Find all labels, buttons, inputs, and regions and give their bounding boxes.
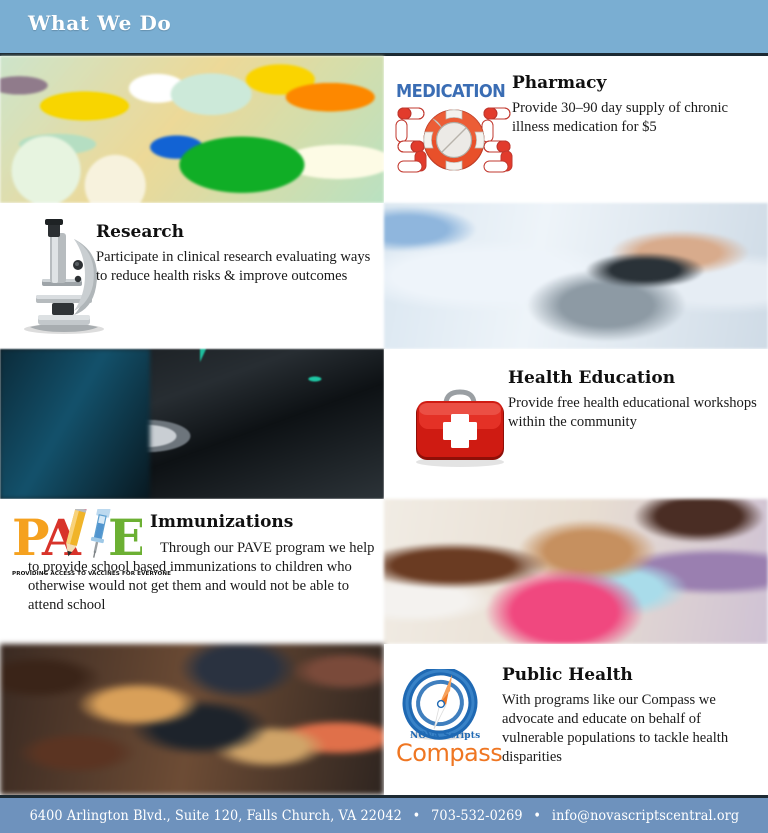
footer-address: 6400 Arlington Blvd., Suite 120, Falls C… xyxy=(29,808,401,824)
services-grid: MEDICATION xyxy=(0,56,768,795)
health-education-text-cell: Health Education Provide free health edu… xyxy=(384,349,768,499)
section-title: Health Education xyxy=(508,369,758,388)
footer-separator-2: • xyxy=(526,808,547,824)
section-body: Provide 30–90 day supply of chronic illn… xyxy=(512,99,758,137)
child-vaccination-photo xyxy=(384,499,768,644)
page-header: What We Do xyxy=(0,0,768,56)
section-body: Provide free health educational workshop… xyxy=(508,394,758,432)
section-public-health: NOVA Scripts Compass Public Health With … xyxy=(0,644,768,795)
section-body: Through our PAVE program we help to prov… xyxy=(28,539,376,615)
footer-contact-line: 6400 Arlington Blvd., Suite 120, Falls C… xyxy=(29,808,739,824)
life-ring-icon xyxy=(424,110,484,170)
section-title: Pharmacy xyxy=(512,74,758,93)
public-health-text-cell: NOVA Scripts Compass Public Health With … xyxy=(384,644,768,795)
first-aid-kit-icon xyxy=(408,382,512,468)
page-footer: 6400 Arlington Blvd., Suite 120, Falls C… xyxy=(0,795,768,833)
pills-capsules-photo xyxy=(0,56,384,203)
section-title: Immunizations xyxy=(150,513,378,532)
medication-sos-wordmark: MEDICATION xyxy=(396,82,506,102)
microscope-icon xyxy=(20,217,106,335)
medication-sos-capsules-icon xyxy=(394,104,514,174)
section-body: With programs like our Compass we advoca… xyxy=(502,691,758,767)
nova-scripts-compass-logo: NOVA Scripts Compass xyxy=(394,669,494,769)
section-health-education: Health Education Provide free health edu… xyxy=(0,349,768,499)
section-immunizations: P A E xyxy=(0,499,768,644)
page-title: What We Do xyxy=(28,11,171,35)
what-we-do-infographic: What We Do MEDICATION xyxy=(0,0,768,833)
pharmacy-text-cell: MEDICATION xyxy=(384,56,768,203)
section-pharmacy: MEDICATION xyxy=(0,56,768,203)
footer-phone[interactable]: 703-532-0269 xyxy=(431,808,522,824)
section-title: Research xyxy=(96,223,374,242)
footer-separator-1: • xyxy=(406,808,427,824)
research-text-cell: Research Participate in clinical researc… xyxy=(0,203,384,349)
medication-sos-logo: MEDICATION xyxy=(394,82,514,174)
section-body: Participate in clinical research evaluat… xyxy=(96,248,374,286)
footer-email[interactable]: info@novascriptscentral.org xyxy=(552,808,739,824)
crowd-of-people-photo xyxy=(0,644,384,795)
stethoscope-laptop-photo xyxy=(0,349,384,499)
section-title: Public Health xyxy=(502,666,758,685)
laboratory-scientist-microscope-photo xyxy=(384,203,768,349)
compass-wordmark: Compass xyxy=(396,739,502,767)
section-research: Research Participate in clinical researc… xyxy=(0,203,768,349)
immunizations-text-cell: P A E xyxy=(0,499,384,644)
